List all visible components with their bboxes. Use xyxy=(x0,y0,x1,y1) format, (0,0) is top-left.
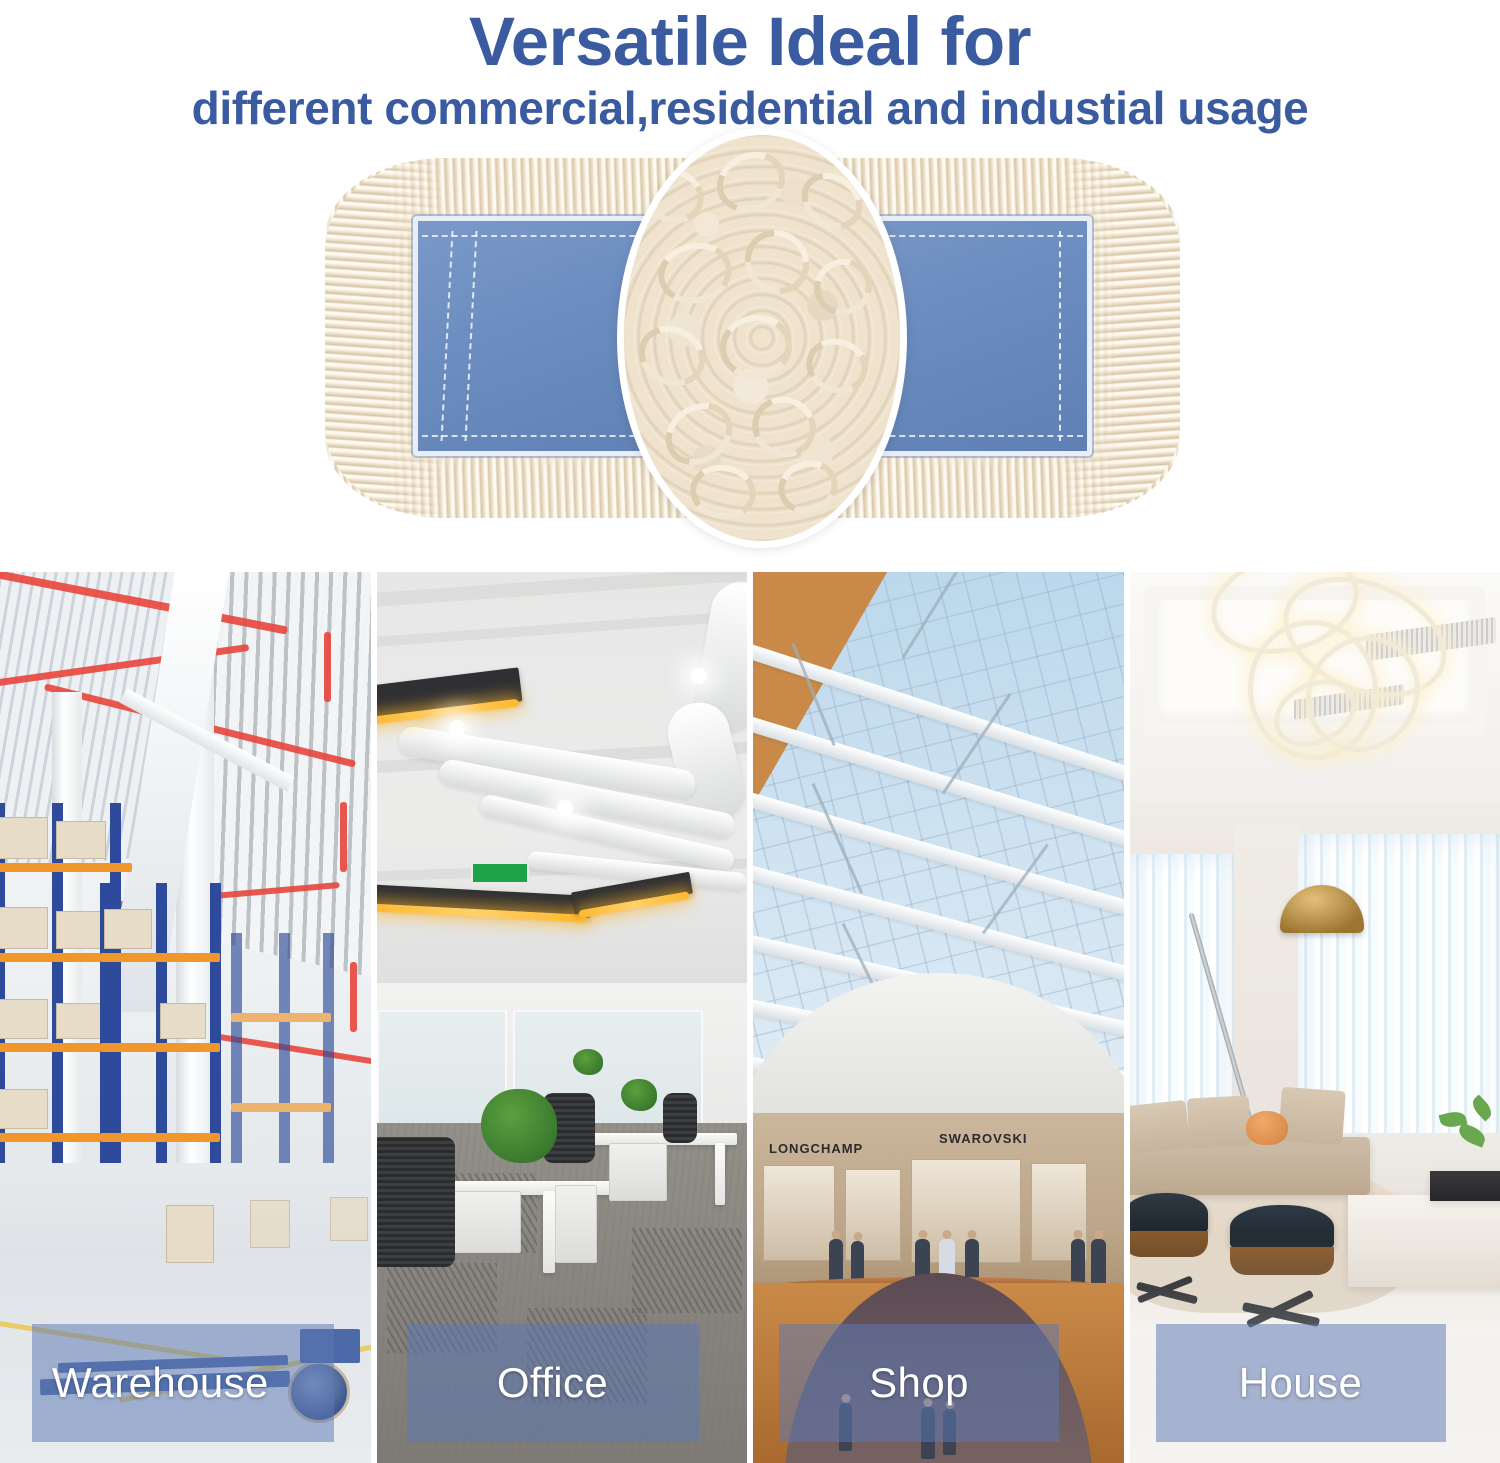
usage-panel-shop[interactable]: LONGCHAMP SWAROVSKI Shop xyxy=(753,572,1124,1463)
yarn-loop-cluster xyxy=(624,135,900,541)
product-hero xyxy=(0,148,1500,548)
usage-label-text: Office xyxy=(497,1359,608,1407)
store-sign-longchamp: LONGCHAMP xyxy=(769,1141,863,1156)
store-sign-swarovski: SWAROVSKI xyxy=(939,1131,1027,1146)
office-exit-sign xyxy=(471,862,529,884)
usage-label-text: Shop xyxy=(869,1359,969,1407)
office-cpu-tower xyxy=(555,1185,597,1263)
dust-mop-head-image xyxy=(325,158,1180,518)
heading-block: Versatile Ideal for different commercial… xyxy=(0,0,1500,136)
usage-label-warehouse: Warehouse xyxy=(32,1324,334,1442)
office-chair-front xyxy=(377,1137,455,1267)
usage-label-house: House xyxy=(1156,1324,1446,1442)
lounge-chair-seat xyxy=(1130,1193,1208,1235)
canvas-stitch-line-b xyxy=(464,231,477,441)
magnified-yarn-inset xyxy=(617,128,907,548)
page-title: Versatile Ideal for xyxy=(0,4,1500,80)
usage-label-shop: Shop xyxy=(779,1324,1059,1442)
teddy-bear xyxy=(1246,1111,1288,1145)
usage-panel-house[interactable]: House xyxy=(1130,572,1500,1463)
office-pedestal-b xyxy=(609,1143,667,1201)
canvas-stitch-line-d xyxy=(1059,231,1061,441)
usage-label-text: House xyxy=(1239,1359,1362,1407)
usage-panel-warehouse[interactable]: Warehouse xyxy=(0,572,371,1463)
usage-label-text: Warehouse xyxy=(52,1359,269,1407)
usage-panel-office[interactable]: Office xyxy=(377,572,748,1463)
usage-label-office: Office xyxy=(407,1324,699,1442)
usage-photo-strip: Warehouse xyxy=(0,572,1500,1463)
house-side-console xyxy=(1430,1171,1500,1201)
office-plant-small xyxy=(621,1079,657,1111)
canvas-stitch-line-a xyxy=(440,231,453,441)
office-pedestal-a xyxy=(445,1191,521,1253)
page-subtitle: different commercial,residential and ind… xyxy=(0,80,1500,136)
